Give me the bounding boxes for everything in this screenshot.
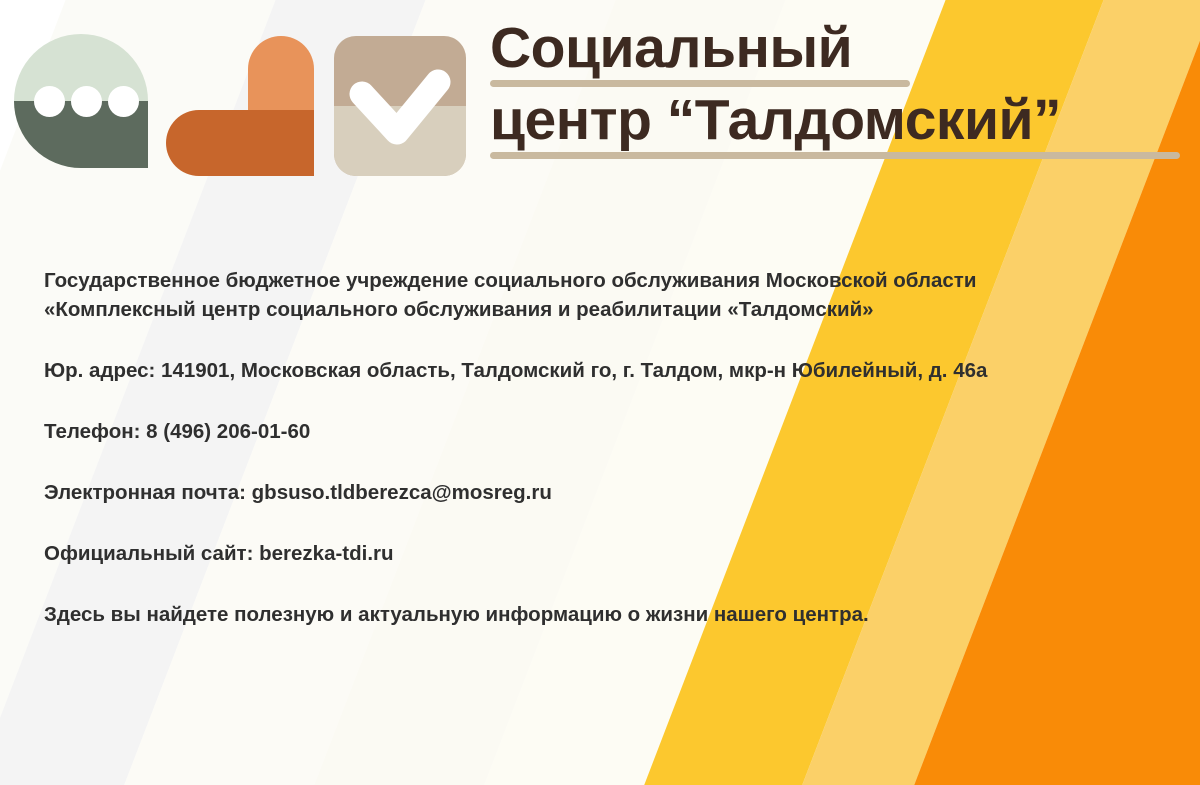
spacer-2 xyxy=(44,385,1184,417)
spacer-4 xyxy=(44,507,1184,539)
organization-logo xyxy=(14,28,454,173)
page-title: Социальный центр “Талдомский” xyxy=(490,18,1180,162)
organization-name-line-2: «Комплексный центр социального обслужива… xyxy=(44,295,1184,324)
title-line-1: Социальный xyxy=(490,18,1180,78)
contact-information: Государственное бюджетное учреждение соц… xyxy=(44,266,1184,629)
legal-address: Юр. адрес: 141901, Московская область, Т… xyxy=(44,356,1184,385)
official-website: Официальный сайт: berezka-tdi.ru xyxy=(44,539,1184,568)
phone-number: Телефон: 8 (496) 206-01-60 xyxy=(44,417,1184,446)
tagline: Здесь вы найдете полезную и актуальную и… xyxy=(44,600,1184,629)
care-hand-icon xyxy=(166,36,314,176)
check-icon xyxy=(334,36,466,176)
organization-name-line-1: Государственное бюджетное учреждение соц… xyxy=(44,266,1184,295)
title-line-2: центр “Талдомский” xyxy=(490,90,1180,150)
slide-canvas: Социальный центр “Талдомский” Государств… xyxy=(0,0,1200,785)
care-hand-horizontal-bar xyxy=(166,110,314,176)
bubble-dot-3 xyxy=(108,86,139,117)
speech-bubble-icon xyxy=(14,34,148,168)
spacer-5 xyxy=(44,568,1184,600)
bubble-dot-2 xyxy=(71,86,102,117)
checkmark-box-icon xyxy=(334,36,466,176)
spacer-3 xyxy=(44,446,1184,478)
spacer-1 xyxy=(44,324,1184,356)
title-underline-2 xyxy=(490,152,1180,159)
bubble-dot-1 xyxy=(34,86,65,117)
title-underline-1 xyxy=(490,80,910,87)
email-address: Электронная почта: gbsuso.tldberezca@mos… xyxy=(44,478,1184,507)
